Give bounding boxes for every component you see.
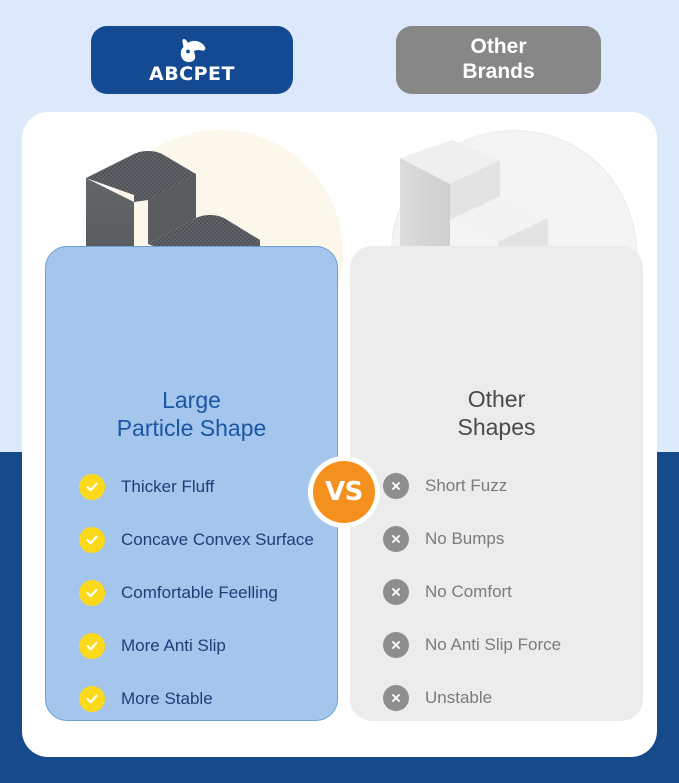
check-circle-icon — [79, 474, 105, 500]
list-item-label: Unstable — [425, 687, 492, 708]
list-item: Unstable — [350, 671, 643, 724]
list-item: Concave Convex Surface — [46, 513, 337, 566]
panel-other-title-line1: Other — [350, 386, 643, 414]
check-circle-icon — [79, 686, 105, 712]
list-item-label: More Anti Slip — [121, 635, 226, 656]
abcpet-feature-list: Thicker Fluff Concave Convex Surface Com… — [46, 460, 337, 725]
list-item: No Anti Slip Force — [350, 618, 643, 671]
panel-other-brands: Other Shapes Short Fuzz No Bumps — [350, 246, 643, 721]
panel-abcpet: Large Particle Shape Thicker Fluff Conca… — [45, 246, 338, 721]
list-item-label: No Comfort — [425, 581, 512, 602]
cross-circle-icon — [383, 579, 409, 605]
panel-other-title: Other Shapes — [350, 386, 643, 441]
infographic-root: ABCPET Other Brands — [0, 0, 679, 783]
list-item-label: No Anti Slip Force — [425, 634, 561, 655]
comparison-panels: Large Particle Shape Thicker Fluff Conca… — [0, 0, 679, 783]
list-item: No Comfort — [350, 565, 643, 618]
other-feature-list: Short Fuzz No Bumps No Comfort — [350, 459, 643, 724]
cross-circle-icon — [383, 526, 409, 552]
panel-abcpet-title-line2: Particle Shape — [46, 415, 337, 443]
list-item-label: Concave Convex Surface — [121, 529, 314, 550]
check-circle-icon — [79, 633, 105, 659]
list-item-label: Comfortable Feelling — [121, 582, 278, 603]
list-item: No Bumps — [350, 512, 643, 565]
list-item: More Anti Slip — [46, 619, 337, 672]
panel-other-title-line2: Shapes — [350, 414, 643, 442]
panel-abcpet-title: Large Particle Shape — [46, 387, 337, 442]
list-item: Comfortable Feelling — [46, 566, 337, 619]
vs-badge: VS — [313, 461, 375, 523]
list-item: Thicker Fluff — [46, 460, 337, 513]
cross-circle-icon — [383, 685, 409, 711]
list-item-label: No Bumps — [425, 528, 504, 549]
cross-circle-icon — [383, 632, 409, 658]
list-item-label: Thicker Fluff — [121, 476, 214, 497]
panel-abcpet-title-line1: Large — [46, 387, 337, 415]
list-item-label: More Stable — [121, 688, 213, 709]
check-circle-icon — [79, 580, 105, 606]
cross-circle-icon — [383, 473, 409, 499]
list-item: More Stable — [46, 672, 337, 725]
check-circle-icon — [79, 527, 105, 553]
list-item: Short Fuzz — [350, 459, 643, 512]
list-item-label: Short Fuzz — [425, 475, 507, 496]
vs-label: VS — [325, 477, 363, 507]
